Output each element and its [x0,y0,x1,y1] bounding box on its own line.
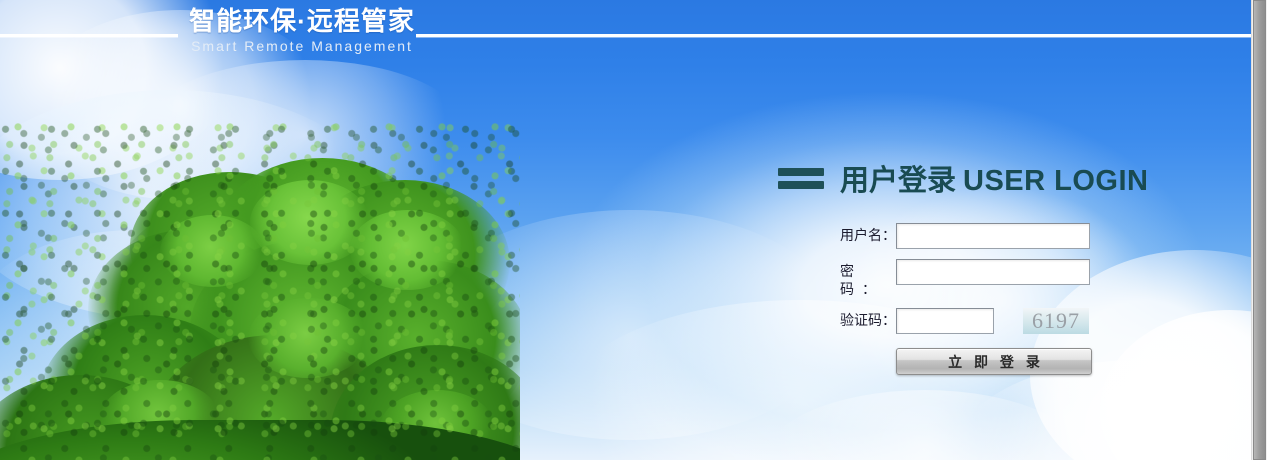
vertical-scrollbar[interactable] [1251,0,1267,460]
brand-block: 智能环保·远程管家 Smart Remote Management [186,8,418,53]
username-input[interactable] [896,223,1090,249]
form-row-captcha: 验证码： 6197 [840,308,1178,334]
captcha-label: 验证码： [840,308,896,329]
captcha-image[interactable]: 6197 [1023,308,1089,334]
brand-title-cn: 智能环保·远程管家 [186,8,418,34]
login-title-row: 用户登录USER LOGIN [778,155,1178,201]
tree-image [0,120,520,460]
login-page: 智能环保·远程管家 Smart Remote Management 用户登录US… [0,0,1267,460]
scrollbar-thumb[interactable] [1253,0,1266,460]
password-label: 密 码： [840,259,896,298]
brand-subtitle-en: Smart Remote Management [186,39,418,53]
login-title-cn: 用户登录 [840,165,956,197]
page-viewport: 智能环保·远程管家 Smart Remote Management 用户登录US… [0,0,1251,460]
login-title-en: USER LOGIN [963,165,1148,197]
header-rule-left [0,34,178,37]
page-title: 用户登录USER LOGIN [840,157,1148,199]
header-rule-right [416,34,1251,37]
form-row-password: 密 码： [840,259,1178,298]
login-button-row: 立 即 登 录 [896,348,1178,375]
form-row-username: 用户名： [840,223,1178,249]
login-panel: 用户登录USER LOGIN 用户名： 密 码： 验证码： 6197 [778,155,1178,375]
equals-bars-icon [778,168,824,189]
login-form: 用户名： 密 码： 验证码： 6197 立 即 登 录 [840,223,1178,375]
password-input[interactable] [896,259,1090,285]
username-label: 用户名： [840,223,896,244]
login-submit-button[interactable]: 立 即 登 录 [896,348,1092,375]
captcha-input[interactable] [896,308,994,334]
